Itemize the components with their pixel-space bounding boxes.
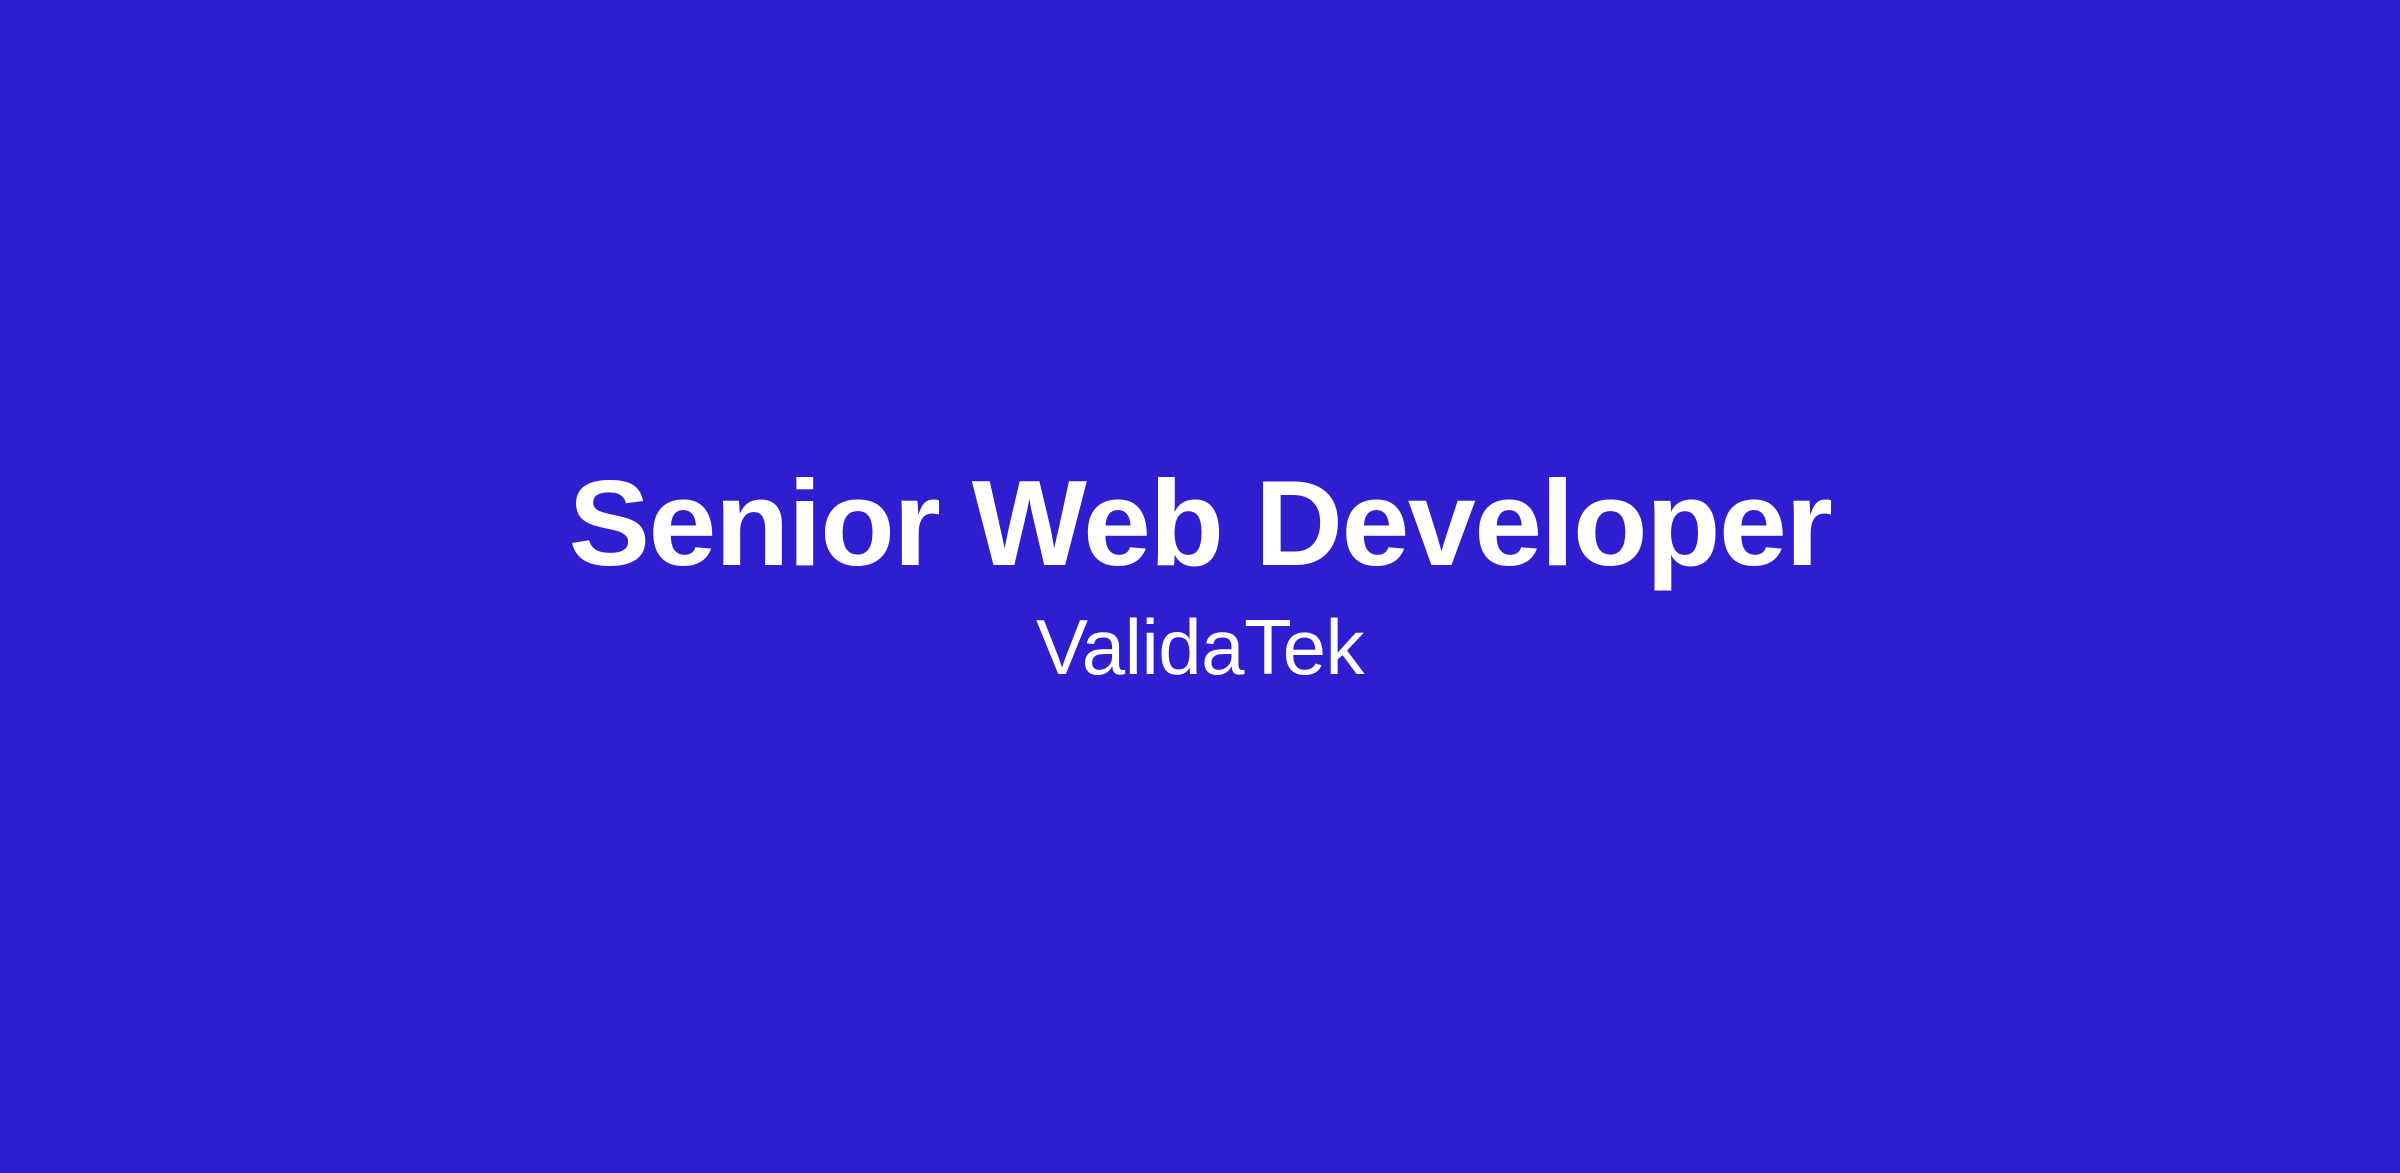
company-name: ValidaTek [1036, 604, 1364, 691]
job-title: Senior Web Developer [569, 458, 1832, 590]
job-card-content: Senior Web Developer ValidaTek [0, 458, 2400, 691]
job-posting-card: Senior Web Developer ValidaTek [0, 0, 2400, 1173]
